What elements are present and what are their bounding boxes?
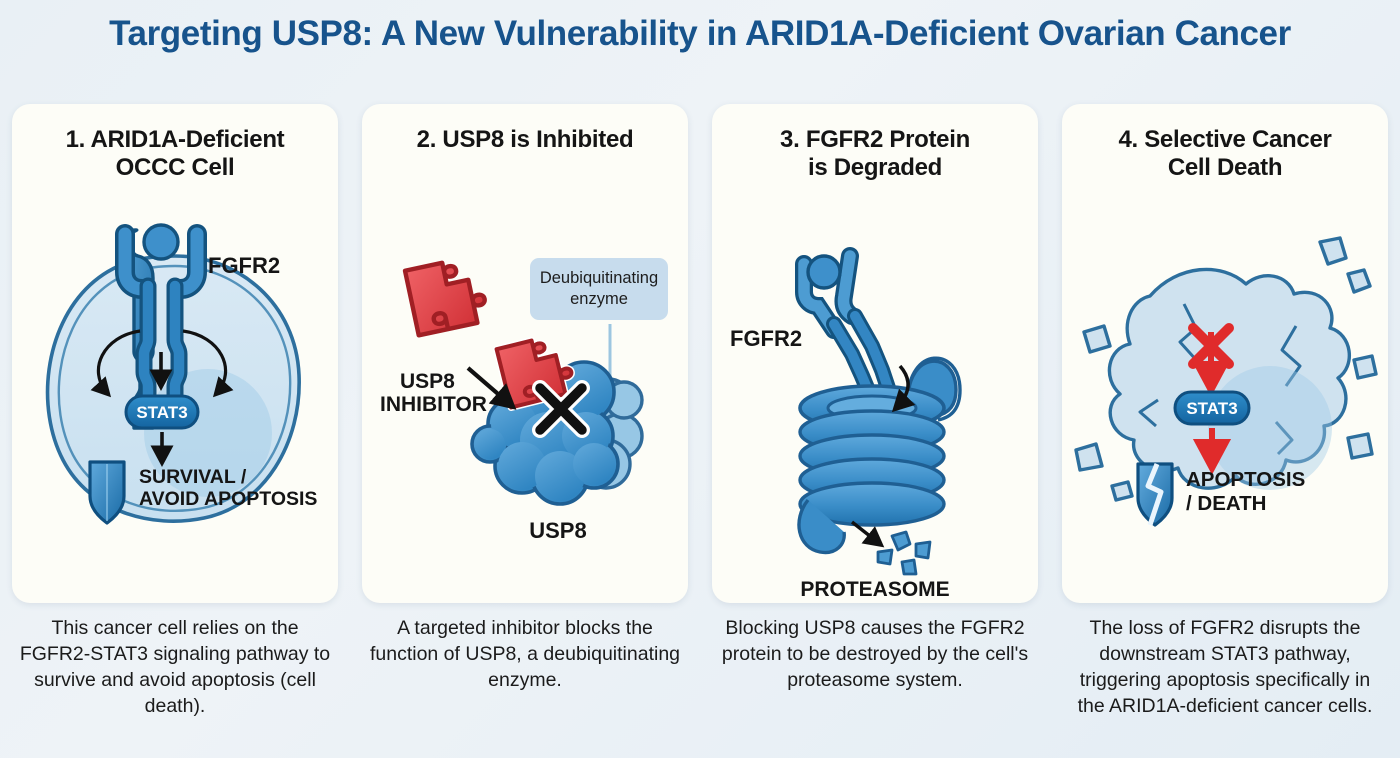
panel-1-caption: This cancer cell relies on the FGFR2-STA…: [14, 616, 336, 720]
page-title: Targeting USP8: A New Vulnerability in A…: [0, 14, 1400, 54]
panel-2-usp8-label: USP8: [529, 518, 586, 543]
panel-1-illustration: FGFR2 STAT3: [12, 200, 338, 600]
panel-2-inhibitor-label-line1: USP8: [400, 370, 455, 393]
panel-3-title-line2: is Degraded: [808, 154, 942, 181]
panel-card-4[interactable]: 4. Selective Cancer Cell Death: [1062, 104, 1388, 603]
survival-shield-icon: [90, 462, 124, 523]
panel-3-caption: Blocking USP8 causes the FGFR2 protein t…: [714, 616, 1036, 694]
panel-2-caption: A targeted inhibitor blocks the function…: [364, 616, 686, 694]
panel-1-title: 1. ARID1A-Deficient OCCC Cell: [20, 126, 330, 182]
panel-2-inhibitor-label-line2: INHIBITOR: [380, 393, 487, 416]
panel-card-3[interactable]: 3. FGFR2 Protein is Degraded: [712, 104, 1038, 603]
infographic-page: Targeting USP8: A New Vulnerability in A…: [0, 0, 1400, 758]
panel-1-outcome-line2: AVOID APOPTOSIS: [139, 488, 317, 510]
panel-4-illustration: STAT3 APOPTOSIS / DEATH: [1062, 200, 1388, 600]
panel-2-title-line1: 2. USP8 is Inhibited: [417, 126, 634, 153]
panel-4-outcome-line2: / DEATH: [1186, 492, 1266, 515]
callout-line2: enzyme: [570, 290, 628, 308]
panel-2-illustration: Deubiquitinating enzyme: [362, 200, 688, 600]
panel-1-title-line1: 1. ARID1A-Deficient: [66, 126, 285, 153]
broken-shield-icon: [1138, 464, 1172, 525]
usp8-inhibitor-piece-free: [405, 256, 489, 336]
panel-4-title: 4. Selective Cancer Cell Death: [1070, 126, 1380, 182]
caption-row: This cancer cell relies on the FGFR2-STA…: [0, 616, 1400, 758]
panel-card-1[interactable]: 1. ARID1A-Deficient OCCC Cell: [12, 104, 338, 603]
stat3-node: STAT3: [126, 396, 198, 428]
degraded-fragments: [878, 532, 930, 574]
panel-2-title: 2. USP8 is Inhibited: [370, 126, 680, 154]
panel-row: 1. ARID1A-Deficient OCCC Cell: [0, 104, 1400, 604]
panel-1-fgfr2-label: FGFR2: [208, 253, 280, 278]
proteasome-barrel: [799, 358, 960, 552]
panel-4-title-line1: 4. Selective Cancer: [1118, 126, 1331, 153]
panel-4-outcome-line1: APOPTOSIS: [1186, 468, 1305, 491]
fgfr2-degrading: [804, 256, 890, 400]
panel-4-caption: The loss of FGFR2 disrupts the downstrea…: [1064, 616, 1386, 720]
panel-3-illustration: FGFR2: [712, 200, 1038, 600]
panel-1-stat3-label: STAT3: [136, 403, 187, 422]
panel-3-title-line1: 3. FGFR2 Protein: [780, 126, 970, 153]
panel-4-title-line2: Cell Death: [1168, 154, 1282, 181]
panel-1-outcome-line1: SURVIVAL /: [139, 466, 247, 488]
stat3-node: STAT3: [1175, 392, 1249, 424]
panel-3-proteasome-label: PROTEASOME: [800, 578, 949, 600]
panel-4-stat3-label: STAT3: [1186, 399, 1237, 418]
panel-3-title: 3. FGFR2 Protein is Degraded: [720, 126, 1030, 182]
panel-3-fgfr2-label: FGFR2: [730, 326, 802, 351]
panel-card-2[interactable]: 2. USP8 is Inhibited: [362, 104, 688, 603]
panel-1-title-line2: OCCC Cell: [116, 154, 235, 181]
callout-line1: Deubiquitinating: [540, 269, 658, 287]
